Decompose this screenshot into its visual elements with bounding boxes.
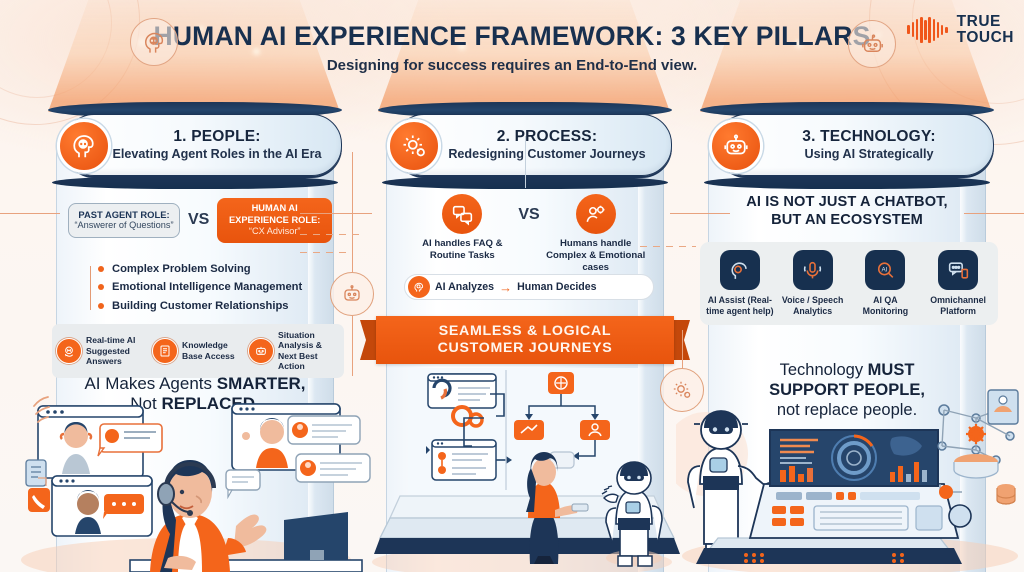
connector-wire	[352, 152, 353, 272]
illustration-robot-control-console	[676, 388, 1024, 572]
ai-analyzes-human-decides-pill[interactable]: AI Analyzes → Human Decides	[404, 274, 654, 300]
brain-head-icon	[408, 276, 430, 298]
people-skill-list: Complex Problem Solving Emotional Intell…	[98, 260, 302, 315]
chip-realtime-ai-answers[interactable]: Real-time AI Suggested Answers	[56, 335, 148, 366]
connector-wire	[0, 213, 60, 214]
cell-label: Humans handle Complex & Emotional cases	[546, 238, 646, 274]
gear-ai-icon	[387, 119, 441, 173]
arrow-right-icon: →	[499, 280, 512, 295]
illustration-process-workflow	[372, 368, 680, 572]
person-gear-icon	[576, 194, 616, 234]
tech-card-ai-qa-monitoring[interactable]: AI AI QA Monitoring	[851, 250, 921, 317]
chip-situation-analysis[interactable]: Situation Analysis & Next Best Action	[248, 330, 340, 372]
past-role-value: “Answerer of Questions”	[73, 220, 175, 232]
robot-icon	[848, 20, 896, 68]
tech-card-label: Voice / Speech Analytics	[778, 295, 848, 317]
headline-line-2: BUT AN ECOSYSTEM	[706, 212, 988, 230]
tech-card-label: AI Assist (Real-time agent help)	[705, 295, 775, 317]
tagline-plain: AI Makes Agents	[84, 374, 216, 393]
connector-wire	[352, 316, 353, 376]
headline-line-1: AI IS NOT JUST A CHATBOT,	[706, 194, 988, 212]
tech-card-voice-analytics[interactable]: Voice / Speech Analytics	[778, 250, 848, 317]
chat-device-icon	[938, 250, 978, 290]
list-stem	[90, 266, 98, 310]
ai-capability-chips: Real-time AI Suggested Answers Knowledge…	[52, 324, 344, 378]
brain-refresh-icon	[56, 338, 82, 364]
pillar-subtitle: Elevating Agent Roles in the AI Era	[112, 147, 321, 162]
process-comparison: AI handles FAQ & Routine Tasks VS Humans…	[392, 194, 666, 274]
tech-card-ai-assist[interactable]: AI Assist (Real-time agent help)	[705, 250, 775, 317]
head-brain-icon	[57, 119, 111, 173]
robot-icon	[709, 119, 763, 173]
gear-ai-icon	[670, 378, 694, 402]
logo-line-1: TRUE	[957, 14, 1014, 30]
tech-card-omnichannel[interactable]: Omnichannel Platform	[923, 250, 993, 317]
connector-wire	[300, 213, 372, 214]
pillar-cap-under-header	[704, 176, 990, 189]
pillar-header-process[interactable]: 2. PROCESS: Redesigning Customer Journey…	[394, 114, 672, 176]
connector-wire-dashed	[300, 252, 350, 253]
microphone-icon	[793, 250, 833, 290]
head-gear-icon	[720, 250, 760, 290]
tagline-bold: SMARTER,	[217, 374, 306, 393]
ai-book-icon	[152, 338, 178, 364]
illustration-contact-center-agent	[0, 392, 372, 572]
robot-icon	[340, 282, 364, 306]
technology-cards: AI Assist (Real-time agent help) Voice /…	[700, 242, 998, 325]
pillar-cap-under-header	[52, 176, 338, 189]
brand-logo: TRUE TOUCH	[907, 14, 1014, 46]
list-item: Building Customer Relationships	[98, 297, 302, 315]
header: HUMAN AI EXPERIENCE FRAMEWORK: 3 KEY PIL…	[0, 0, 1024, 92]
list-item: Complex Problem Solving	[98, 260, 302, 278]
connector-wire	[964, 213, 1024, 214]
robot-analysis-icon	[248, 338, 274, 364]
ribbon-line-1: SEAMLESS & LOGICAL	[439, 323, 612, 340]
connector-process-technology[interactable]	[660, 368, 704, 412]
vs-label: VS	[188, 211, 209, 229]
connector-wire	[682, 330, 683, 368]
pillar-title: 3. TECHNOLOGY:	[802, 128, 935, 145]
connector-wire	[670, 213, 730, 214]
vs-divider-group: VS	[518, 194, 539, 224]
seamless-journeys-ribbon: SEAMLESS & LOGICAL CUSTOMER JOURNEYS	[376, 316, 674, 364]
new-role-label: HUMAN AI EXPERIENCE ROLE:	[221, 203, 328, 226]
pillar-header-technology[interactable]: 3. TECHNOLOGY: Using AI Strategically	[716, 114, 994, 176]
soundwave-heart-icon	[907, 17, 947, 43]
humans-handle-cell[interactable]: Humans handle Complex & Emotional cases	[546, 194, 646, 274]
logo-line-2: TOUCH	[957, 30, 1014, 46]
role-comparison: PAST AGENT ROLE: “Answerer of Questions”…	[68, 198, 332, 243]
infographic-canvas: HUMAN AI EXPERIENCE FRAMEWORK: 3 KEY PIL…	[0, 0, 1024, 572]
tagline-bold: MUST	[868, 361, 915, 379]
connector-people-process[interactable]	[330, 272, 374, 316]
head-brain-icon	[130, 18, 178, 66]
chip-label: Situation Analysis & Next Best Action	[278, 330, 340, 372]
vs-label: VS	[518, 206, 539, 224]
connector-wire-dashed	[640, 246, 696, 247]
connector-wire-dashed	[300, 234, 364, 235]
tech-card-label: Omnichannel Platform	[923, 295, 993, 317]
tech-card-label: AI QA Monitoring	[851, 295, 921, 317]
chat-bubbles-ai-icon	[442, 194, 482, 234]
new-role-value: “CX Advisor”	[221, 226, 328, 238]
flow-right-label: Human Decides	[517, 281, 596, 293]
pillar-subtitle: Redesigning Customer Journeys	[448, 147, 645, 162]
past-role-label: PAST AGENT ROLE:	[73, 209, 175, 221]
list-item: Emotional Intelligence Management	[98, 278, 302, 296]
pillar-header-people[interactable]: 1. PEOPLE: Elevating Agent Roles in the …	[64, 114, 342, 176]
flow-left-label: AI Analyzes	[435, 281, 494, 293]
cell-label: AI handles FAQ & Routine Tasks	[412, 238, 512, 262]
pillar-title: 2. PROCESS:	[497, 128, 597, 145]
ribbon-line-2: CUSTOMER JOURNEYS	[438, 340, 613, 357]
chip-label: Knowledge Base Access	[182, 340, 244, 361]
human-ai-role-box[interactable]: HUMAN AI EXPERIENCE ROLE: “CX Advisor”	[217, 198, 332, 243]
svg-text:AI: AI	[881, 266, 887, 273]
ecosystem-headline: AI IS NOT JUST A CHATBOT, BUT AN ECOSYST…	[706, 194, 988, 229]
pillar-title: 1. PEOPLE:	[173, 128, 260, 145]
ai-handles-cell[interactable]: AI handles FAQ & Routine Tasks	[412, 194, 512, 262]
pillar-subtitle: Using AI Strategically	[804, 147, 933, 162]
vertical-divider	[525, 136, 526, 188]
ai-magnifier-icon: AI	[865, 250, 905, 290]
past-agent-role-box[interactable]: PAST AGENT ROLE: “Answerer of Questions”	[68, 203, 180, 238]
chip-label: Real-time AI Suggested Answers	[86, 335, 148, 366]
chip-knowledge-base-access[interactable]: Knowledge Base Access	[152, 338, 244, 364]
tagline-plain: Technology	[780, 361, 868, 379]
